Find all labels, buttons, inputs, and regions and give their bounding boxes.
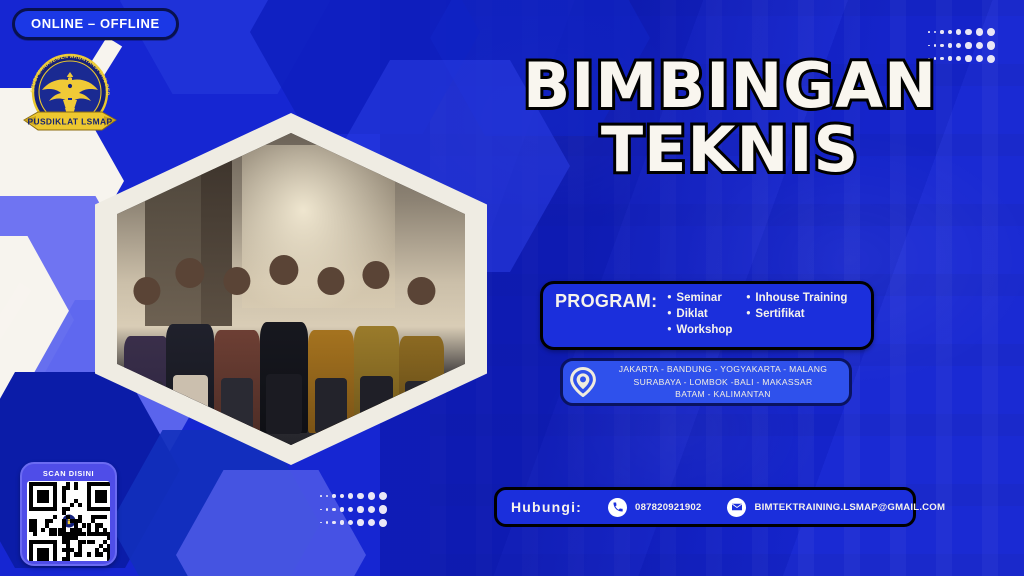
- contact-bar: Hubungi: 087820921902 BIMTEKTRAINING.LSM…: [494, 487, 916, 527]
- envelope-icon: [727, 498, 746, 517]
- program-item: •Workshop: [667, 323, 732, 338]
- location-line: JAKARTA - BANDUNG - YOGYAKARTA - MALANG: [603, 363, 843, 375]
- organization-logo: LEMBAGA STUDI MANAJEMEN AKUNTANSI DAN PE…: [16, 42, 124, 144]
- contact-phone[interactable]: 087820921902: [608, 498, 701, 517]
- contact-label: Hubungi:: [511, 499, 582, 515]
- map-pin-icon: [563, 367, 603, 397]
- program-item: •Diklat: [667, 307, 732, 322]
- qr-title: SCAN DISINI: [27, 469, 110, 478]
- contact-email[interactable]: BIMTEKTRAINING.LSMAP@GMAIL.COM: [727, 498, 945, 517]
- location-box: JAKARTA - BANDUNG - YOGYAKARTA - MALANG …: [560, 358, 852, 406]
- poster-canvas: ONLINE – OFFLINE LEMBAGA STUDI MANAJEMEN…: [0, 0, 1024, 576]
- location-line: BATAM - KALIMANTAN: [603, 388, 843, 400]
- title-line-2: TEKNIS: [470, 120, 990, 180]
- location-line: SURABAYA - LOMBOK -BALI - MAKASSAR: [603, 376, 843, 388]
- program-item: •Inhouse Training: [746, 291, 847, 306]
- program-item: •Sertifikat: [746, 307, 847, 322]
- title-line-1: BIMBINGAN: [470, 56, 990, 116]
- email-address: BIMTEKTRAINING.LSMAP@GMAIL.COM: [754, 502, 945, 513]
- program-label: PROGRAM:: [555, 291, 657, 312]
- poster-title: BIMBINGAN TEKNIS: [470, 56, 990, 179]
- program-column-left: •Seminar •Diklat •Workshop: [667, 291, 732, 339]
- dot-grid-bottom-left: [320, 492, 387, 527]
- qr-code-card[interactable]: SCAN DISINI: [20, 462, 117, 566]
- hexagon-photo-frame: [95, 113, 487, 465]
- program-box: PROGRAM: •Seminar •Diklat •Workshop •Inh…: [540, 281, 874, 350]
- logo-ribbon-text: PUSDIKLAT LSMAP: [28, 117, 113, 127]
- qr-code-image: [27, 481, 110, 561]
- program-item: •Seminar: [667, 291, 732, 306]
- program-column-right: •Inhouse Training •Sertifikat: [746, 291, 847, 339]
- phone-number: 087820921902: [635, 502, 701, 513]
- phone-icon: [608, 498, 627, 517]
- status-badge-online-offline: ONLINE – OFFLINE: [12, 8, 179, 40]
